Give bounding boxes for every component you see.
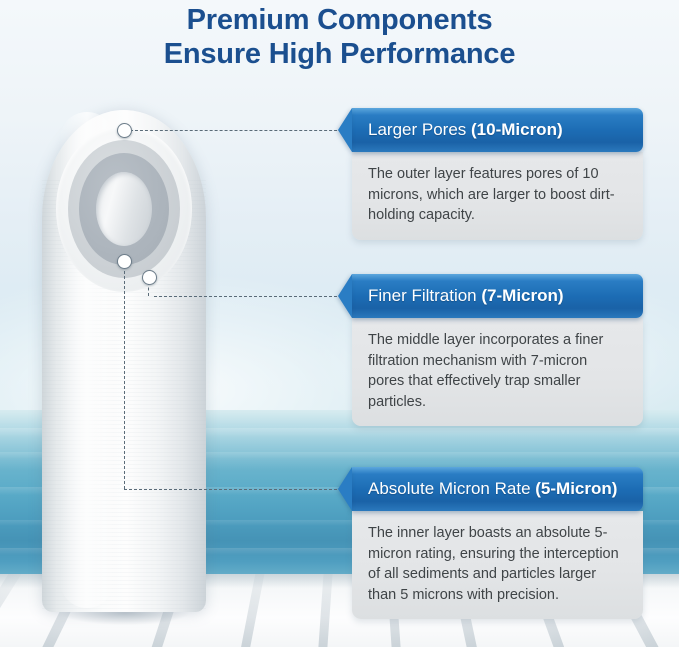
marker-dot-outer-layer[interactable] bbox=[117, 123, 132, 138]
callout-banner-absolute-micron-rate[interactable]: Absolute Micron Rate (5-Micron) bbox=[352, 467, 643, 511]
leader-line-inner-layer bbox=[124, 489, 352, 490]
title-line-2: Ensure High Performance bbox=[0, 37, 679, 71]
callout-banner-larger-pores[interactable]: Larger Pores (10-Micron) bbox=[352, 108, 643, 152]
callout-body-absolute-micron-rate: The inner layer boasts an absolute 5-mic… bbox=[352, 511, 643, 619]
callout-heading-prefix: Absolute Micron Rate bbox=[368, 479, 535, 498]
callout-heading-prefix: Finer Filtration bbox=[368, 286, 481, 305]
leader-line-middle-layer bbox=[154, 296, 352, 297]
callout-body-text: The inner layer boasts an absolute 5-mic… bbox=[368, 523, 627, 605]
leader-line-inner-vertical bbox=[124, 266, 125, 489]
infographic-stage: Premium Components Ensure High Performan… bbox=[0, 0, 679, 647]
callout-body-finer-filtration: The middle layer incorporates a finer fi… bbox=[352, 318, 643, 426]
callout-heading-emphasis: (10-Micron) bbox=[471, 120, 563, 139]
callout-heading: Absolute Micron Rate (5-Micron) bbox=[352, 479, 617, 499]
leader-line-outer-layer bbox=[130, 130, 352, 131]
title-line-1: Premium Components bbox=[0, 3, 679, 37]
callout-heading: Larger Pores (10-Micron) bbox=[352, 120, 563, 140]
filter-core-opening bbox=[96, 172, 152, 246]
page-title: Premium Components Ensure High Performan… bbox=[0, 0, 679, 71]
callout-finer-filtration: Finer Filtration (7-Micron) The middle l… bbox=[338, 274, 643, 426]
callout-body-larger-pores: The outer layer features pores of 10 mic… bbox=[352, 152, 643, 240]
callout-heading-emphasis: (5-Micron) bbox=[535, 479, 617, 498]
callout-banner-finer-filtration[interactable]: Finer Filtration (7-Micron) bbox=[352, 274, 643, 318]
callout-heading-emphasis: (7-Micron) bbox=[481, 286, 563, 305]
callout-body-text: The middle layer incorporates a finer fi… bbox=[368, 330, 627, 412]
marker-dot-middle-layer[interactable] bbox=[142, 270, 157, 285]
marker-dot-inner-layer[interactable] bbox=[117, 254, 132, 269]
callout-body-text: The outer layer features pores of 10 mic… bbox=[368, 164, 627, 226]
callout-larger-pores: Larger Pores (10-Micron) The outer layer… bbox=[338, 108, 643, 240]
callout-heading-prefix: Larger Pores bbox=[368, 120, 471, 139]
callout-absolute-micron-rate: Absolute Micron Rate (5-Micron) The inne… bbox=[338, 467, 643, 619]
callout-heading: Finer Filtration (7-Micron) bbox=[352, 286, 564, 306]
